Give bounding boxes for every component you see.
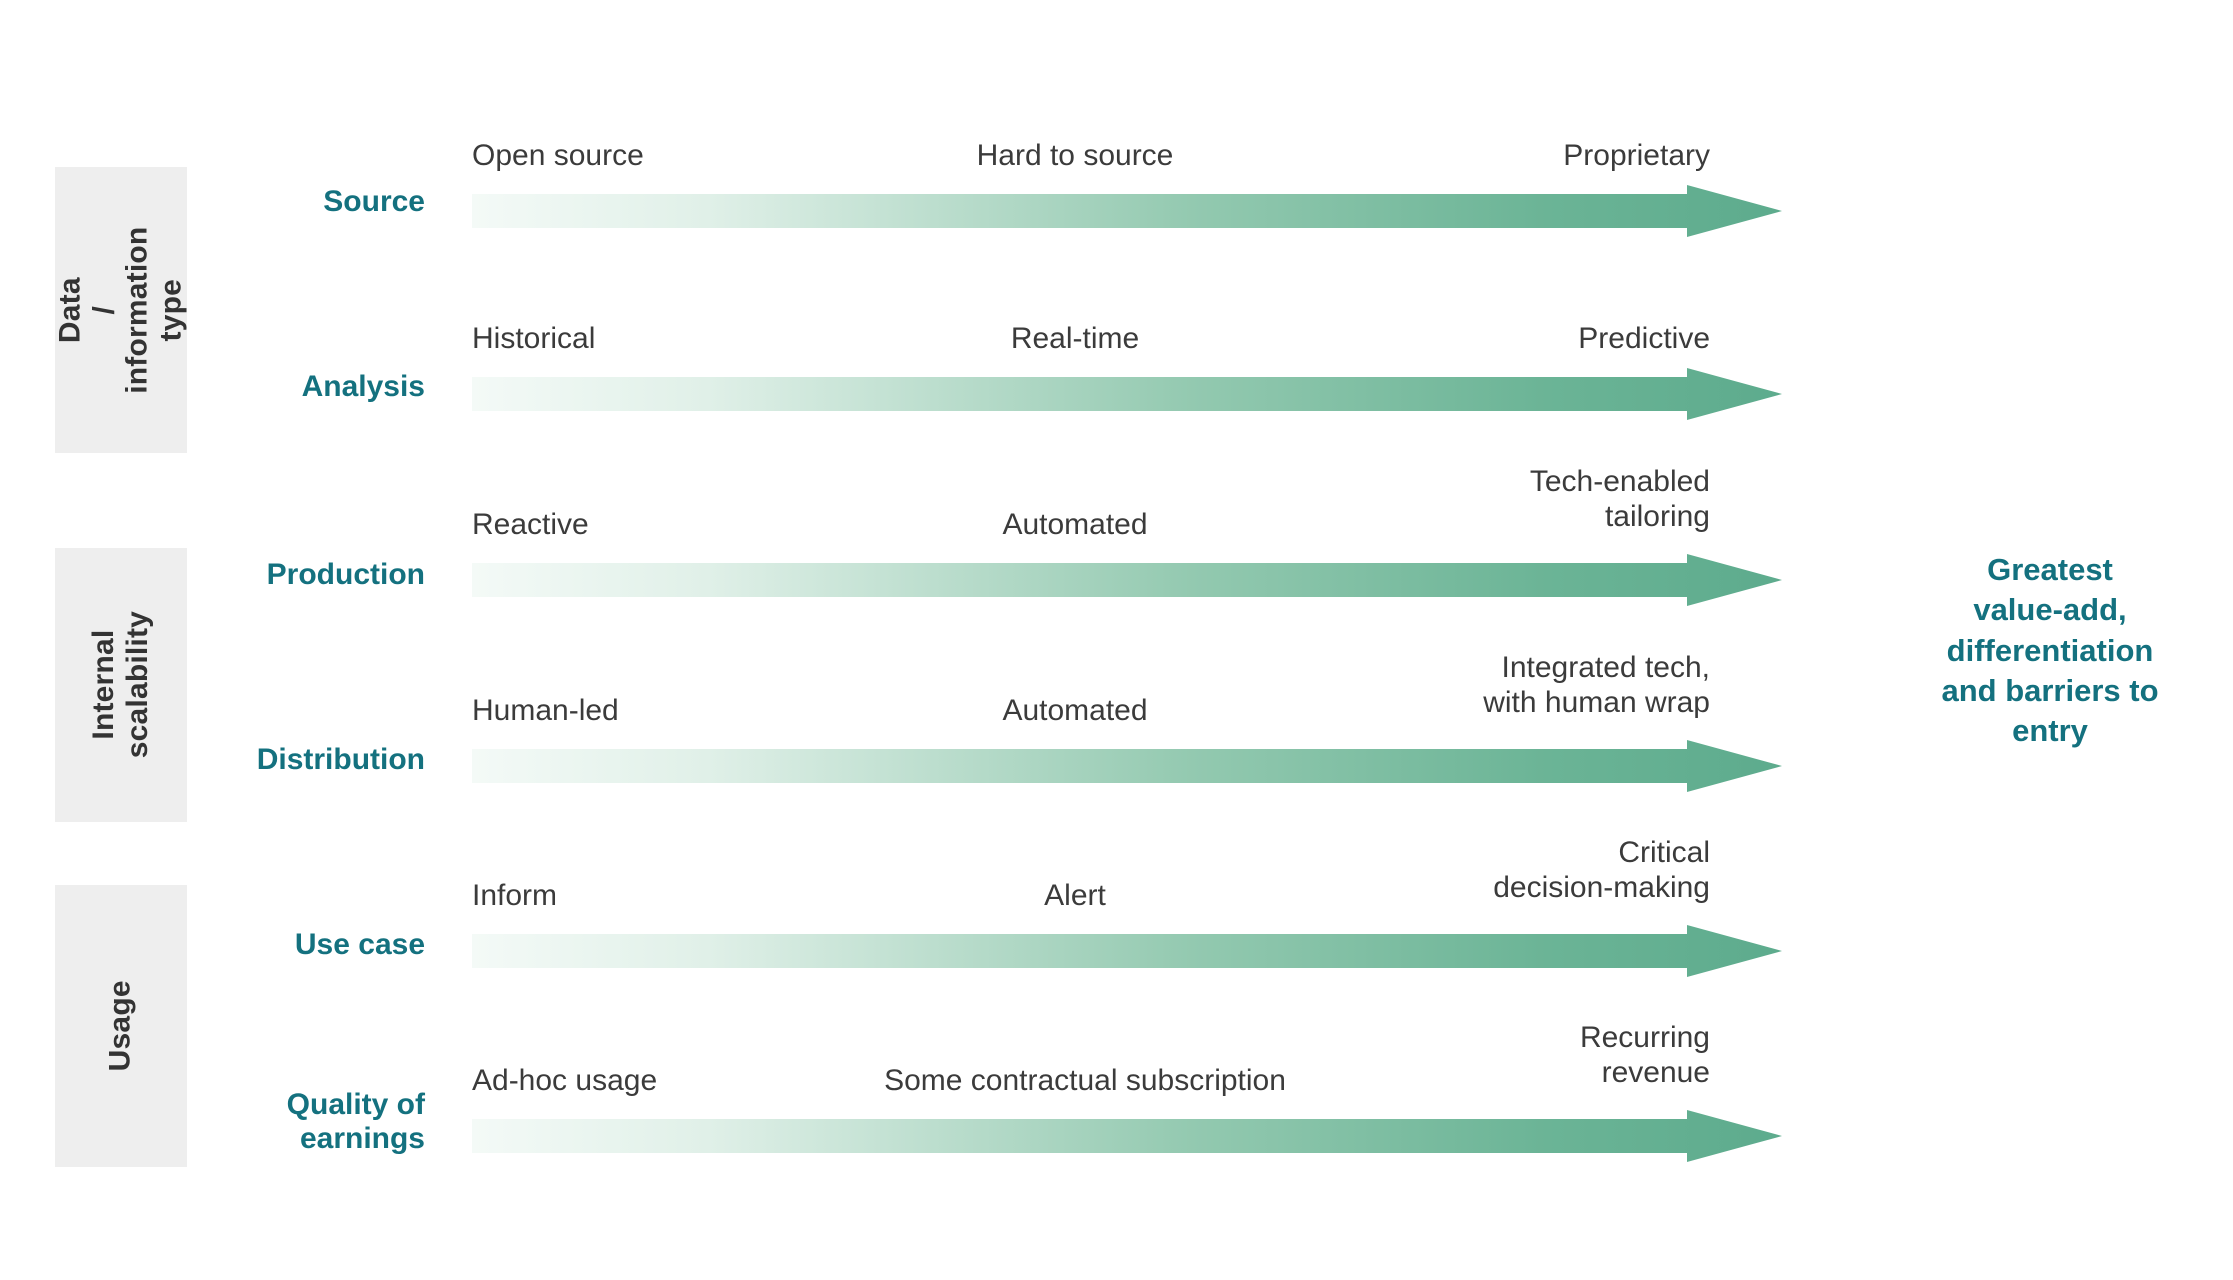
conclusion-text: Greatest value-add, differentiation and … [1880,550,2220,751]
arrow-shape-use-case [472,925,1782,977]
spectrum-arrow-distribution [472,740,1782,792]
diagram-canvas: Data / information type Internal scalabi… [0,0,2233,1280]
stage-label-source-start: Open source [472,138,892,173]
spectrum-arrow-quality-of-earnings [472,1110,1782,1162]
spectrum-arrow-source [472,185,1782,237]
arrow-shape-quality-of-earnings [472,1110,1782,1162]
arrow-shape-source [472,185,1782,237]
stage-label-source-mid: Hard to source [875,138,1275,173]
stage-label-production-start: Reactive [472,507,892,542]
stage-label-analysis-mid: Real-time [875,321,1275,356]
stage-label-use-case-end: Critical decision-making [1250,835,1710,905]
group-label-internal-scalability: Internal scalability [87,611,154,758]
spectrum-arrow-production [472,554,1782,606]
stage-label-quality-of-earnings-end: Recurring revenue [1290,1020,1710,1090]
stage-label-use-case-start: Inform [472,878,892,913]
stage-label-distribution-mid: Automated [875,693,1275,728]
row-label-source: Source [160,185,425,219]
arrow-shape-distribution [472,740,1782,792]
stage-label-analysis-end: Predictive [1290,321,1710,356]
row-label-production: Production [160,558,425,592]
row-label-use-case: Use case [160,928,425,962]
stage-label-source-end: Proprietary [1290,138,1710,173]
row-label-quality-of-earnings: Quality of earnings [160,1088,425,1155]
arrow-shape-production [472,554,1782,606]
stage-label-analysis-start: Historical [472,321,892,356]
stage-label-production-end: Tech-enabled tailoring [1290,464,1710,534]
stage-label-distribution-start: Human-led [472,693,892,728]
arrow-shape-analysis [472,368,1782,420]
stage-label-production-mid: Automated [875,507,1275,542]
group-label-data-information-type: Data / information type [54,226,188,393]
group-label-usage: Usage [104,980,138,1071]
stage-label-distribution-end: Integrated tech, with human wrap [1250,650,1710,720]
stage-label-quality-of-earnings-mid: Some contractual subscription [820,1063,1350,1098]
row-label-analysis: Analysis [160,370,425,404]
stage-label-use-case-mid: Alert [875,878,1275,913]
row-label-distribution: Distribution [160,743,425,777]
spectrum-arrow-analysis [472,368,1782,420]
spectrum-arrow-use-case [472,925,1782,977]
